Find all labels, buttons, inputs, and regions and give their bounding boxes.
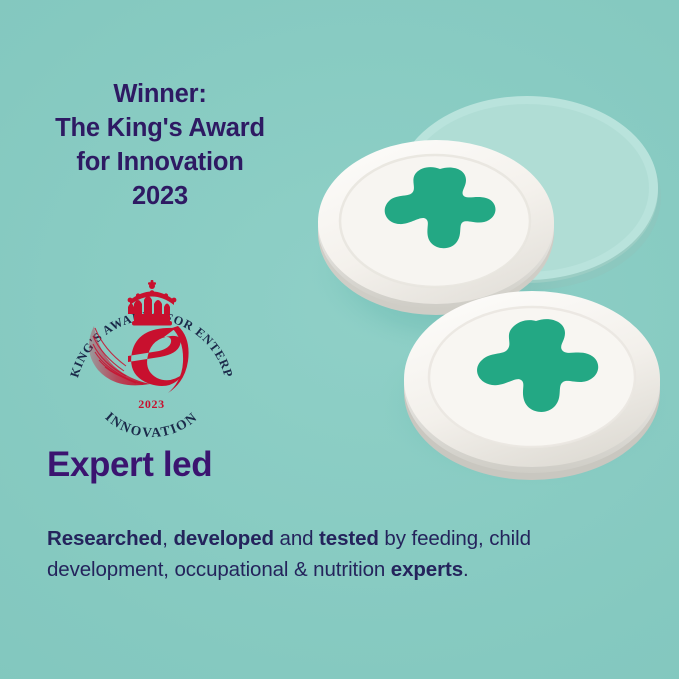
award-headline-line-0: Winner: [20, 78, 300, 112]
emblem-arc-bottom-text: INNOVATION [103, 409, 201, 440]
crown-icon [128, 280, 177, 326]
lower-plate [404, 291, 660, 480]
feature-body-segment-7: . [463, 558, 469, 581]
emblem-year: 2023 [138, 397, 164, 411]
award-headline: Winner:The King's Awardfor Innovation202… [20, 78, 300, 214]
feature-heading: Expert led [47, 446, 212, 485]
feature-body-segment-1: , [162, 527, 173, 550]
feature-body: Researched, developed and tested by feed… [47, 524, 607, 586]
upper-plate [318, 140, 554, 315]
promo-image-canvas: Winner:The King's Awardfor Innovation202… [0, 0, 679, 679]
feature-body-segment-0: Researched [47, 527, 162, 550]
product-photo [300, 95, 679, 485]
feature-body-segment-6: experts [391, 558, 463, 581]
award-headline-line-2: for Innovation [20, 146, 300, 180]
feature-body-segment-2: developed [173, 527, 274, 550]
award-headline-line-1: The King's Award [20, 112, 300, 146]
feature-body-segment-4: tested [319, 527, 379, 550]
feature-body-segment-3: and [274, 527, 319, 550]
award-headline-line-3: 2023 [20, 180, 300, 214]
kings-award-emblem: THE KING'S AWARDS FOR ENTERPRISE [64, 266, 239, 446]
